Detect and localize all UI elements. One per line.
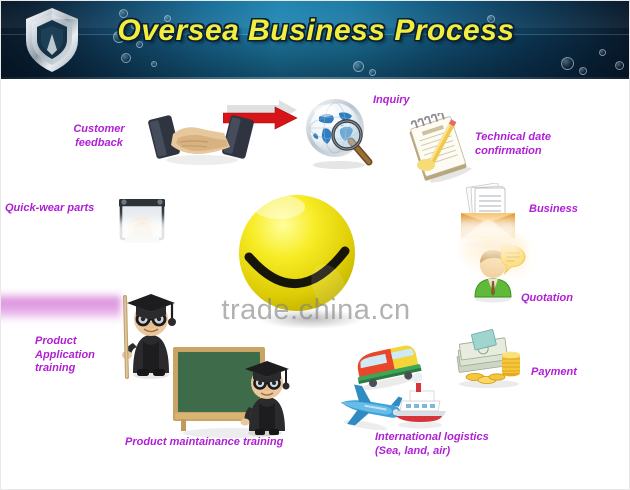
handshake-icon [146,107,256,165]
money-coins-icon [449,325,531,389]
bubble-icon [561,57,574,70]
bubble-icon [121,53,131,63]
page-title: Oversea Business Process [1,14,630,48]
label-technical: Technical date confirmation [475,131,605,158]
label-inquiry: Inquiry [373,94,463,108]
header-banner: Oversea Business Process [1,1,630,79]
bubble-icon [579,67,587,75]
graduate-pointer-icon [111,285,185,381]
notepad-pencil-icon [404,113,476,185]
label-quickwear: Quick-wear parts [5,202,115,216]
bubble-icon [599,49,606,56]
label-application: Product Application training [35,335,121,376]
label-feedback: Customer feedback [49,123,149,150]
globe-magnifier-icon [301,97,381,171]
slide-canvas: Oversea Business Process [0,0,630,490]
label-quotation: Quotation [521,292,617,306]
smiley-ball-icon [219,191,379,331]
label-logistics: International logistics (Sea, land, air) [375,431,535,458]
bubble-icon [353,61,364,72]
bubble-icon [615,61,624,70]
label-maintenance: Product maintainance training [125,436,325,450]
blackboard-graduate-icon [169,341,291,439]
label-payment: Payment [531,366,621,380]
label-business: Business [529,203,625,217]
pink-blur-overlay [0,292,121,322]
bubble-icon [151,61,157,67]
machine-part-icon [111,193,173,255]
envelope-documents-icon [453,183,523,249]
process-diagram: Customer feedback Inquiry Technical date… [1,79,630,490]
train-plane-ship-icon [334,343,446,431]
person-speech-bubble-icon [467,243,529,305]
bubble-icon [369,69,376,76]
